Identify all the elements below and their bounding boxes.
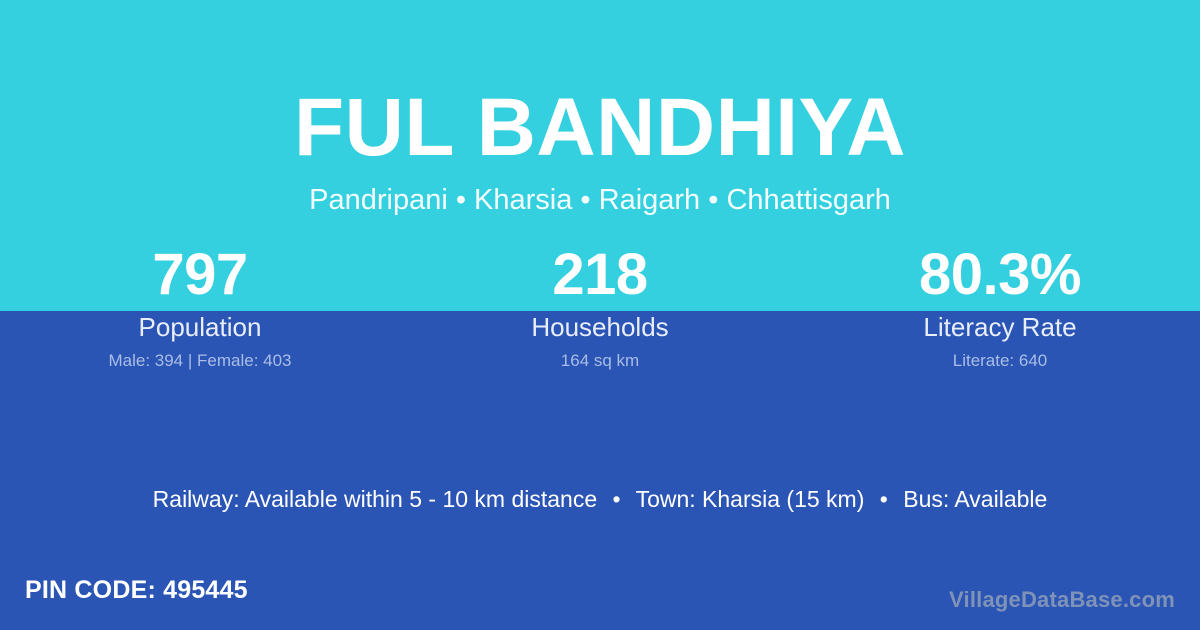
stat-sub-literacy-rate: Literate: 640 bbox=[800, 350, 1200, 371]
village-info-card: FUL BANDHIYA Pandripani • Kharsia • Raig… bbox=[0, 0, 1200, 630]
info-bus: Bus: Available bbox=[903, 486, 1047, 512]
stat-population: 797 Population Male: 394 | Female: 403 bbox=[0, 244, 400, 371]
stat-label-households: Households bbox=[400, 312, 800, 343]
stat-label-literacy-rate: Literacy Rate bbox=[800, 312, 1200, 343]
stat-label-population: Population bbox=[0, 312, 400, 343]
stat-households: 218 Households 164 sq km bbox=[400, 244, 800, 371]
info-separator-1: • bbox=[604, 484, 630, 515]
stat-literacy-rate: 80.3% Literacy Rate Literate: 640 bbox=[800, 244, 1200, 371]
info-separator-2: • bbox=[871, 484, 897, 515]
connectivity-info-line: Railway: Available within 5 - 10 km dist… bbox=[0, 484, 1200, 515]
stat-value-population: 797 bbox=[0, 244, 400, 306]
stat-value-literacy-rate: 80.3% bbox=[800, 244, 1200, 306]
info-town: Town: Kharsia (15 km) bbox=[636, 486, 865, 512]
site-brand: VillageDataBase.com bbox=[949, 586, 1175, 614]
breadcrumb: Pandripani • Kharsia • Raigarh • Chhatti… bbox=[0, 182, 1200, 218]
stats-row: 797 Population Male: 394 | Female: 403 2… bbox=[0, 244, 1200, 371]
stat-sub-population: Male: 394 | Female: 403 bbox=[0, 350, 400, 371]
page-title: FUL BANDHIYA bbox=[0, 82, 1200, 174]
stat-sub-households: 164 sq km bbox=[400, 350, 800, 371]
pin-code: PIN CODE: 495445 bbox=[25, 575, 248, 606]
stat-value-households: 218 bbox=[400, 244, 800, 306]
info-railway: Railway: Available within 5 - 10 km dist… bbox=[153, 486, 597, 512]
